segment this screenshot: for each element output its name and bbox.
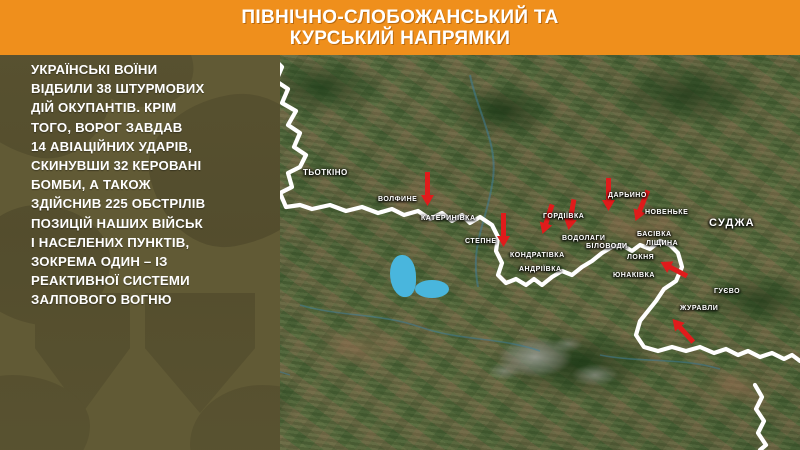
page-title: ПІВНІЧНО-СЛОБОЖАНСЬКИЙ ТА КУРСЬКИЙ НАПРЯ… (241, 6, 558, 50)
summary-text: УКРАЇНСЬКІ ВОЇНИ ВІДБИЛИ 38 ШТУРМОВИХ ДІ… (31, 60, 269, 310)
attack-arrow-4 (602, 178, 615, 211)
attack-arrow-0 (421, 172, 434, 206)
attack-arrow-1 (497, 213, 510, 247)
infographic-frame: ТЬОТКІНОВОЛФИНЕКАТЕРИНІВКАСТЕПНЕКОНДРАТІ… (0, 0, 800, 450)
summary-panel: УКРАЇНСЬКІ ВОЇНИ ВІДБИЛИ 38 ШТУРМОВИХ ДІ… (0, 55, 280, 450)
header-banner: ПІВНІЧНО-СЛОБОЖАНСЬКИЙ ТА КУРСЬКИЙ НАПРЯ… (0, 0, 800, 55)
